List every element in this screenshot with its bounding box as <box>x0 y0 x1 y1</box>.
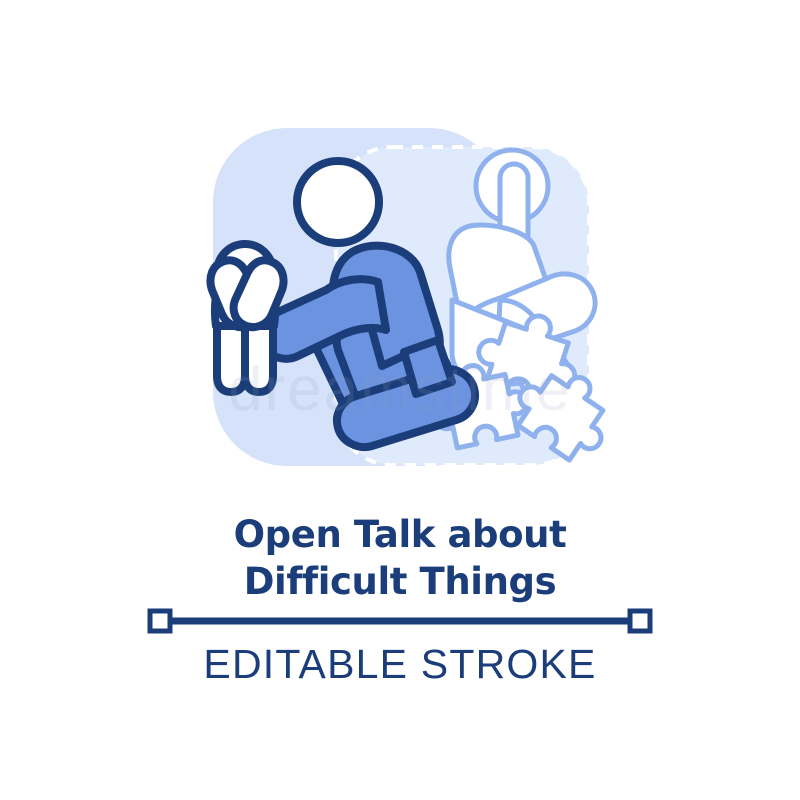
illustration-svg: dreamstime <box>0 0 800 500</box>
divider-svg <box>0 604 800 638</box>
editable-stroke-label: EDITABLE STROKE <box>0 641 800 688</box>
adult-head <box>297 161 379 243</box>
divider-endpoint-right <box>630 611 650 631</box>
divider-endpoint-left <box>150 611 170 631</box>
illustration-area: dreamstime <box>0 0 800 500</box>
editable-stroke-divider <box>0 604 800 638</box>
concept-icon-card: dreamstime Open Talk about Difficult Thi… <box>0 0 800 800</box>
watermark-text: dreamstime <box>228 355 572 424</box>
page-title: Open Talk about Difficult Things <box>0 511 800 606</box>
caption-block: Open Talk about Difficult Things EDITABL… <box>0 500 800 800</box>
